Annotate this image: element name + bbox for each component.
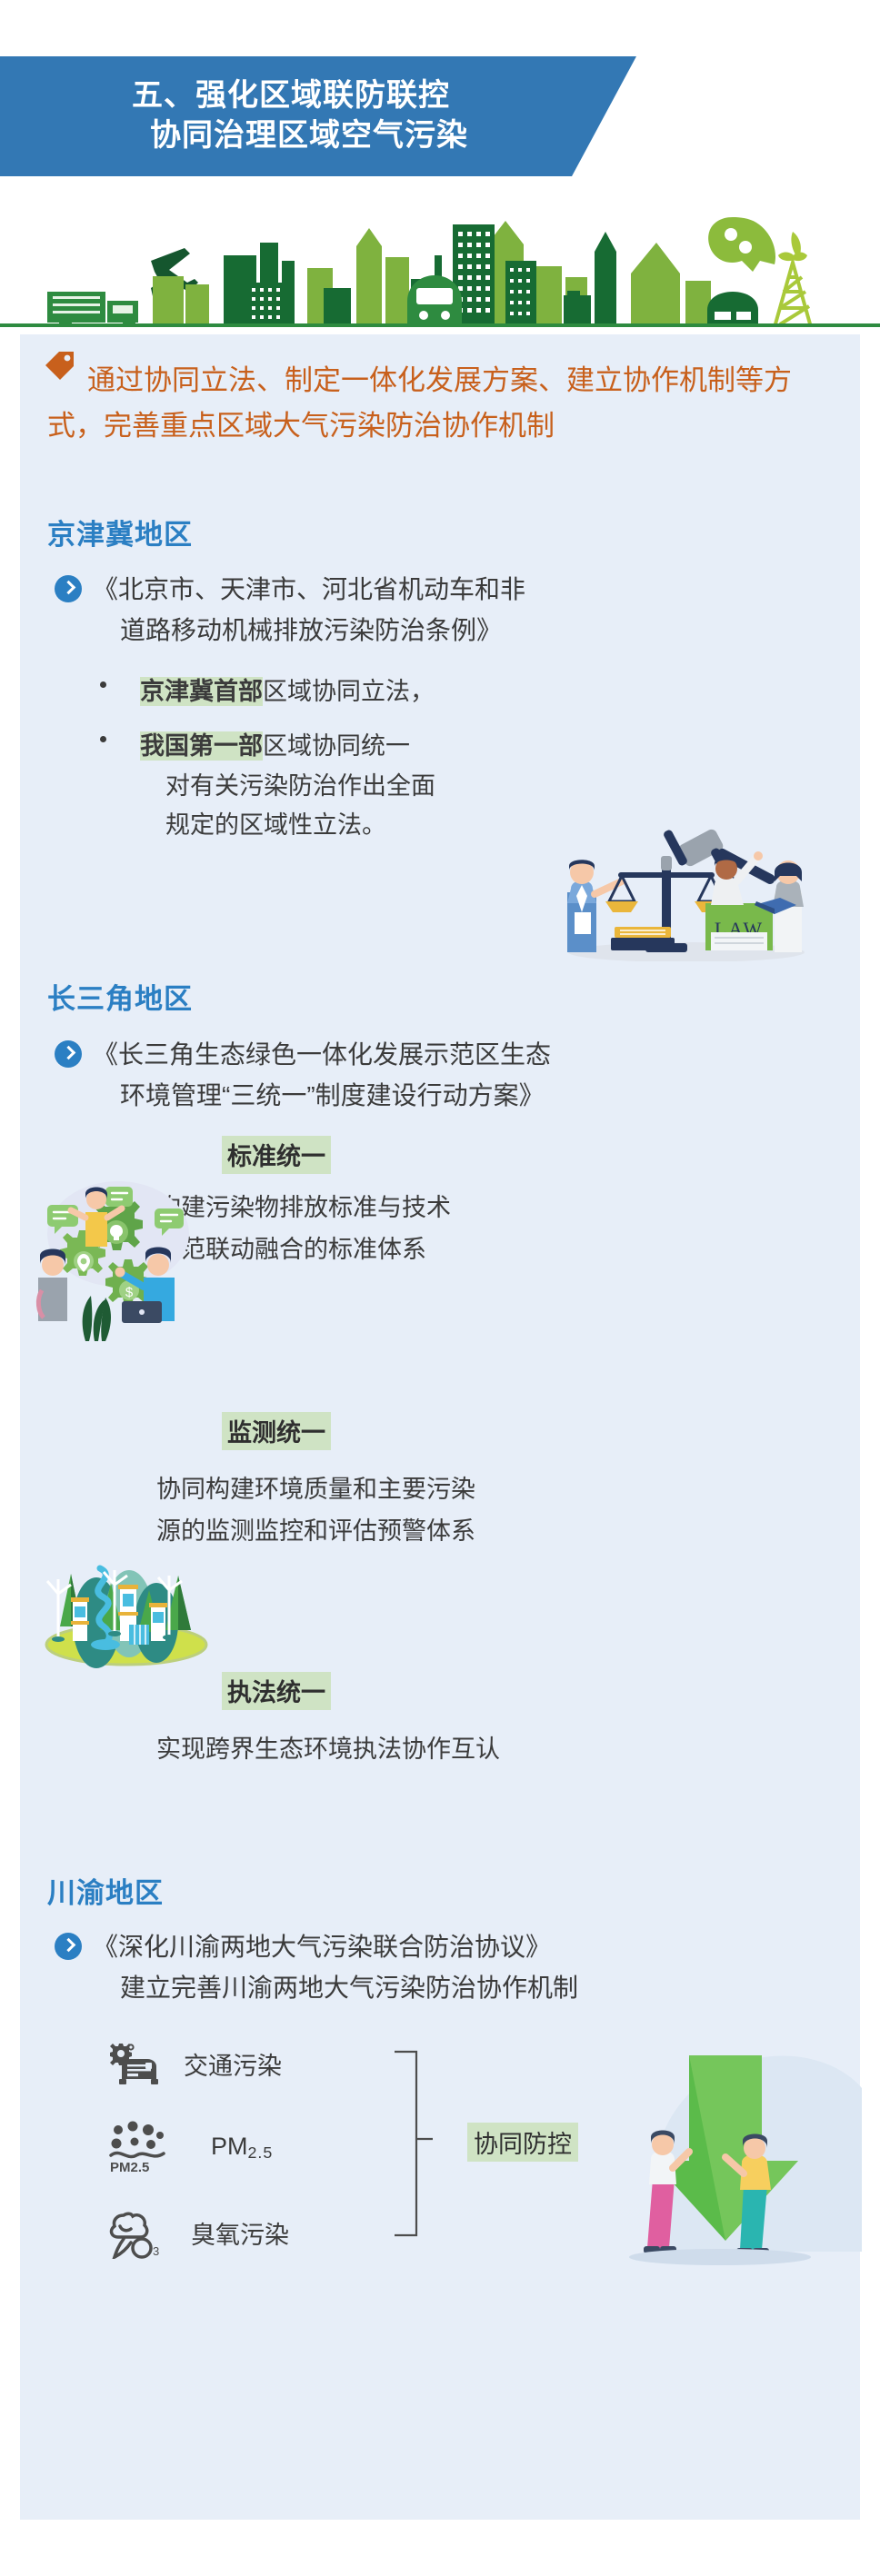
ozone-icon: 3 [107, 2206, 164, 2259]
body-line-1: 构建污染物排放标准与技术 [156, 1187, 520, 1228]
car-icon [707, 292, 758, 327]
pollution-item-pm25: PM2.5 PM2.5 [107, 2121, 273, 2173]
green-hills-city-illustration [40, 1543, 213, 1670]
bullet-2-rest: 区域协同统一 [263, 732, 410, 760]
content-panel: 通过协同立法、制定一体化发展方案、建立协作机制等方式，完善重点区域大气污染防治协… [20, 334, 860, 2520]
pm-sub: 2.5 [248, 2143, 274, 2161]
chevron-right-icon [55, 1933, 82, 1960]
doc-jingjinji-text: 《北京市、天津市、河北省机动车和非 道路移动机械排放污染防治条例》 [93, 569, 784, 651]
region-heading-changsanjiao: 长三角地区 [47, 976, 193, 1017]
subsection-title-jiancetongyi: 监测统一 [222, 1412, 331, 1450]
body-line-1: 协同构建环境质量和主要污染 [156, 1468, 547, 1510]
intro-paragraph: 通过协同立法、制定一体化发展方案、建立协作机制等方式，完善重点区域大气污染防治协… [47, 358, 829, 449]
header-banner: 五、强化区域联防联控 协同治理区域空气污染 [0, 56, 880, 176]
green-city-skyline-illustration [0, 204, 880, 327]
svg-text:$: $ [125, 1285, 134, 1300]
subsection-body-jiancetongyi: 协同构建环境质量和主要污染 源的监测监控和评估预警体系 [156, 1468, 547, 1553]
pm25-icon-caption: PM2.5 [110, 2160, 149, 2173]
pm-main: PM [211, 2133, 248, 2160]
svg-text:3: 3 [153, 2244, 159, 2258]
green-arrow-people-illustration [602, 2024, 865, 2270]
leaf-icon [708, 217, 775, 272]
bullet-dot [100, 736, 106, 742]
bullet-dot [100, 681, 106, 688]
chevron-right-icon [55, 1040, 82, 1068]
subsection-body-zhifatongyi: 实现跨界生态环境执法协作互认 [156, 1728, 565, 1770]
books-stack [611, 927, 675, 950]
doc-changsanjiao-text: 《长三角生态绿色一体化发展示范区生态 环境管理“三统一”制度建设行动方案》 [93, 1034, 784, 1117]
body-line-2: 规范联动融合的标准体系 [156, 1228, 520, 1270]
doc-line-2: 环境管理“三统一”制度建设行动方案》 [93, 1075, 784, 1116]
doc-line-1: 《长三角生态绿色一体化发展示范区生态 [93, 1040, 551, 1069]
car-gear-icon [107, 2043, 160, 2084]
train-icon [407, 275, 462, 327]
page-title-line1: 五、强化区域联防联控 [132, 76, 450, 116]
pollution-label-pm25: PM2.5 [211, 2133, 273, 2163]
doc-line-1: 《深化川渝两地大气污染联合防治协议》 [93, 1933, 551, 1961]
bullet-2-line-2: 对有关污染防治作出全面 [140, 767, 722, 807]
doc-line-2: 道路移动机械排放污染防治条例》 [93, 610, 784, 651]
infographic-page: 五、强化区域联防联控 协同治理区域空气污染 [0, 0, 880, 2576]
body-line-2: 源的监测监控和评估预警体系 [156, 1510, 547, 1552]
car-body [119, 2059, 158, 2084]
bullet-1-highlight: 京津冀首部 [140, 677, 263, 706]
grouping-brace [393, 2048, 447, 2239]
truck-icon [47, 292, 138, 327]
coordinated-control-badge: 协同防控 [467, 2123, 578, 2162]
pm25-icon: PM2.5 [107, 2121, 171, 2173]
derrick-flame [778, 232, 807, 261]
law-scales-gavel-illustration: LAW [527, 825, 827, 961]
bullet-1-rest: 区域协同立法， [263, 678, 435, 705]
subsection-title-zhifatongyi: 执法统一 [222, 1672, 331, 1710]
chevron-right-icon [55, 575, 82, 602]
gears-people-illustration: $ [27, 1179, 200, 1343]
doc-line-2: 建立完善川渝两地大气污染防治协作机制 [93, 1967, 784, 2008]
page-title: 五、强化区域联防联控 协同治理区域空气污染 [0, 56, 582, 176]
pollution-label-ozone: 臭氧污染 [191, 2215, 289, 2251]
law-podium: LAW [705, 903, 773, 950]
bullet-1-text: 京津冀首部区域协同立法， [140, 672, 722, 712]
page-title-line2: 协同治理区域空气污染 [114, 116, 468, 156]
pollution-item-ozone: 3 臭氧污染 [107, 2206, 289, 2259]
region-heading-chuanyu: 川渝地区 [47, 1870, 164, 1911]
subsection-title-biaozhuntongyi: 标准统一 [222, 1136, 331, 1174]
derrick-icon [775, 263, 811, 327]
doc-chuanyu-text: 《深化川渝两地大气污染联合防治协议》 建立完善川渝两地大气污染防治协作机制 [93, 1926, 784, 2009]
subsection-body-biaozhuntongyi: 构建污染物排放标准与技术 规范联动融合的标准体系 [156, 1187, 520, 1271]
doc-line-1: 《北京市、天津市、河北省机动车和非 [93, 575, 525, 603]
pollution-item-traffic: 交通污染 [107, 2043, 282, 2084]
bullet-2-highlight: 我国第一部 [140, 731, 263, 761]
region-heading-jingjinji: 京津冀地区 [47, 512, 193, 552]
body-line-1: 实现跨界生态环境执法协作互认 [156, 1728, 565, 1770]
plant-icon [83, 1296, 111, 1341]
pollution-label-traffic: 交通污染 [184, 2046, 282, 2082]
